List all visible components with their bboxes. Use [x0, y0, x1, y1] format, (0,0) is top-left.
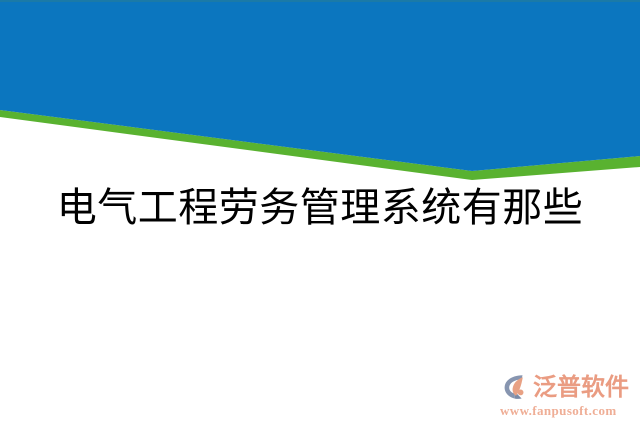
- fanpu-swoosh-logo-icon: [500, 372, 530, 402]
- blue-banner-shape: [0, 0, 640, 171]
- banner-top-edge-line: [0, 0, 640, 2]
- logo-row: 泛普软件: [500, 372, 636, 402]
- header-banner: [0, 0, 640, 200]
- slide-canvas: 电气工程劳务管理系统有那些 泛普软件 www.fanpusoft.com: [0, 0, 640, 427]
- page-title: 电气工程劳务管理系统有那些: [57, 182, 584, 234]
- brand-logo: 泛普软件 www.fanpusoft.com: [500, 372, 636, 420]
- logo-wordmark: 泛普软件: [533, 373, 629, 401]
- title-block: 电气工程劳务管理系统有那些: [0, 182, 640, 234]
- logo-url-text: www.fanpusoft.com: [500, 403, 636, 418]
